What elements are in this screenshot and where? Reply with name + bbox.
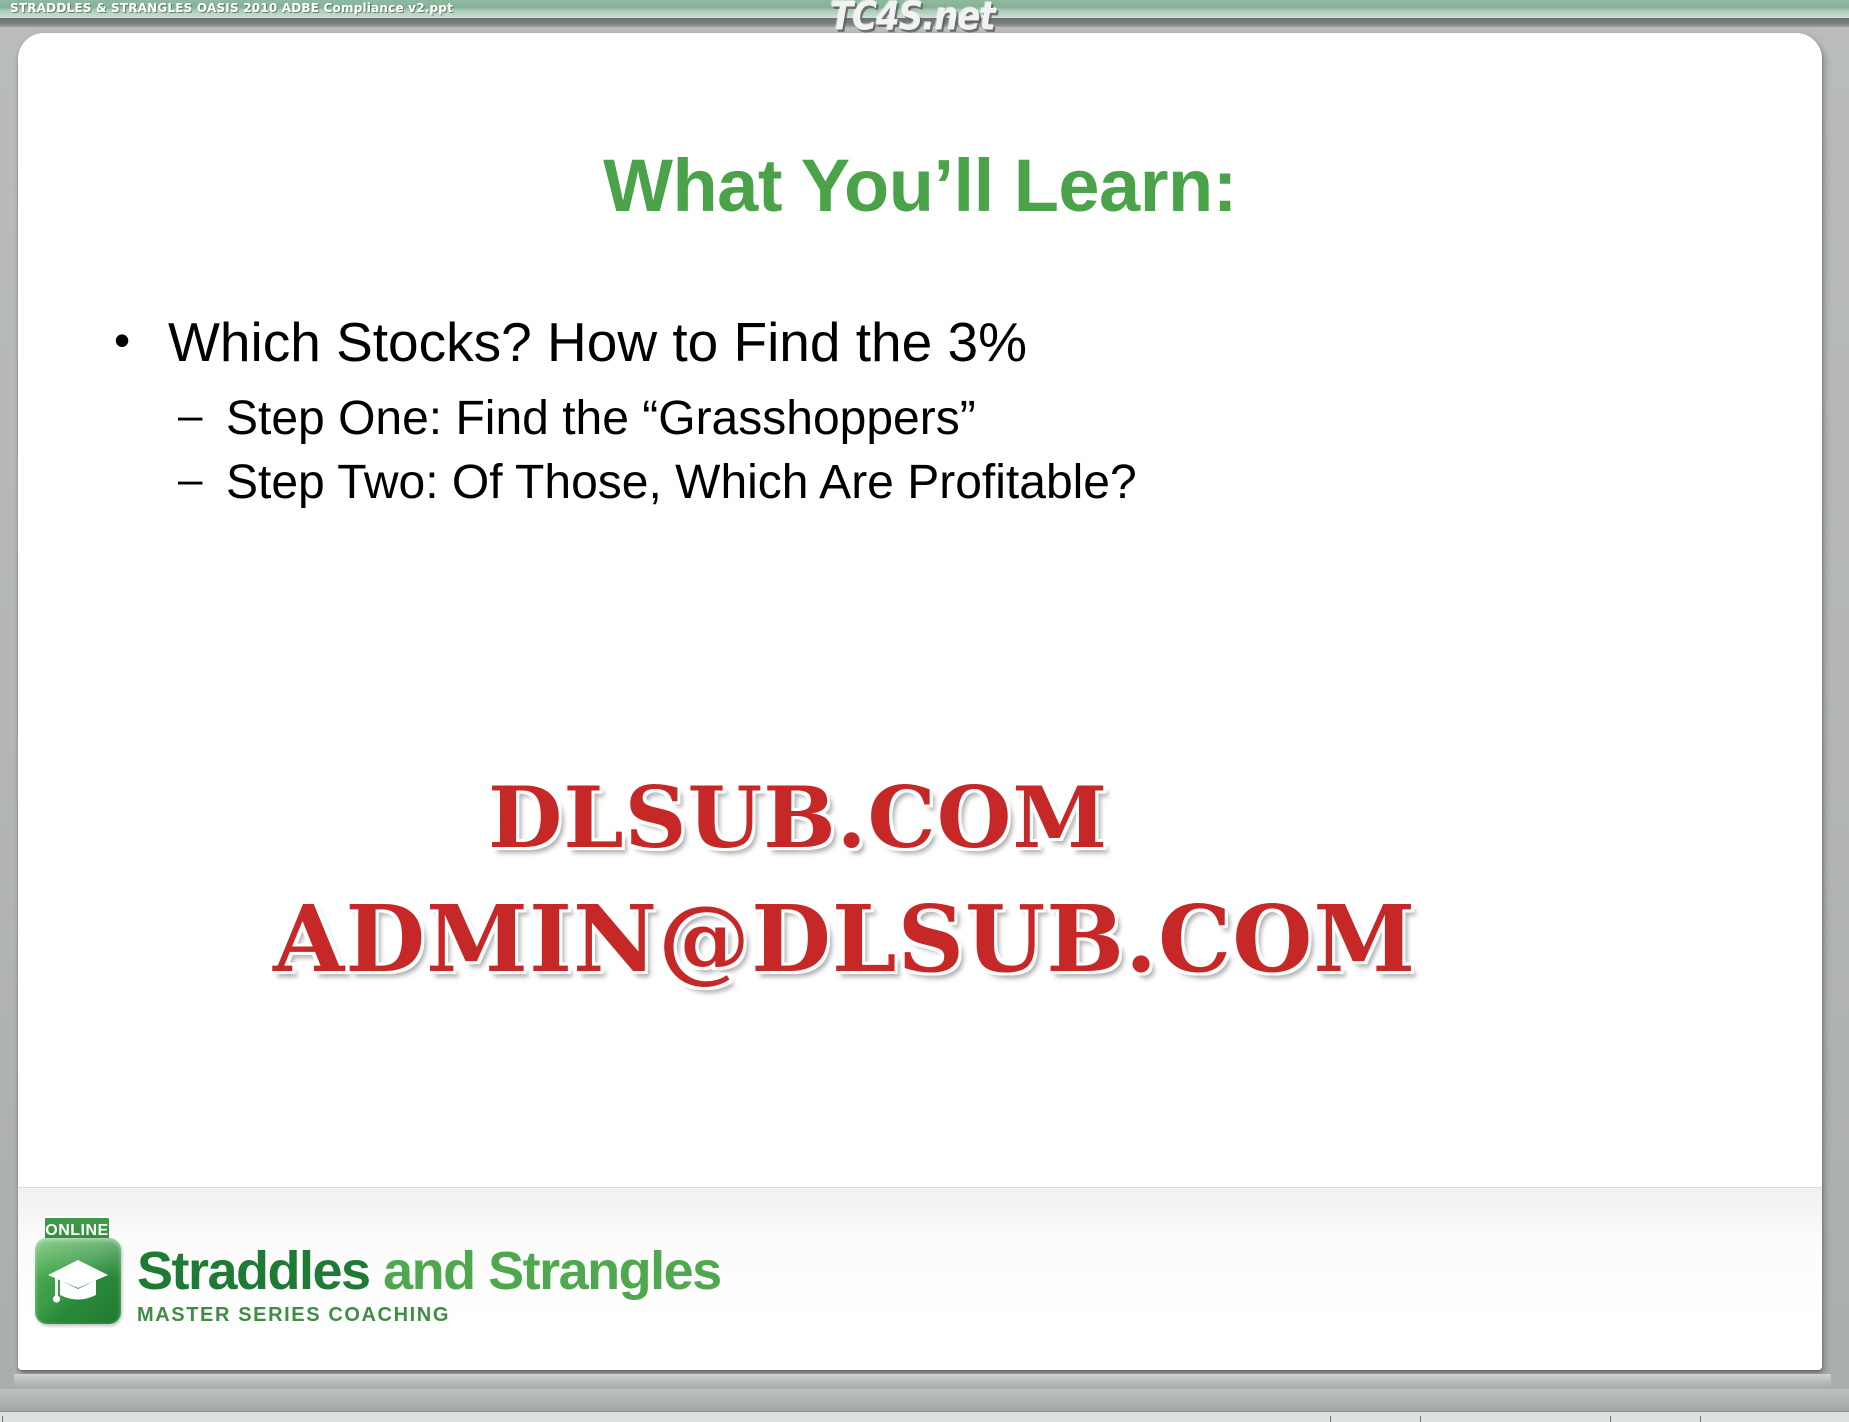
logo-mark: ONLINE xyxy=(35,1216,123,1324)
bullet-text: Step Two: Of Those, Which Are Profitable… xyxy=(226,457,1746,509)
logo-word-secondary: and Strangles xyxy=(370,1241,721,1301)
statusbar-tick xyxy=(1420,1416,1421,1422)
logo-word-primary: Straddles xyxy=(137,1241,370,1301)
bullet-item-level2: – Step One: Find the “Grasshoppers” xyxy=(178,393,1746,445)
statusbar-tick xyxy=(1330,1416,1331,1422)
slide-body: • Which Stocks? How to Find the 3% – Ste… xyxy=(106,313,1746,521)
statusbar-tick xyxy=(1700,1416,1701,1422)
brand-logo: ONLINE Stra xyxy=(35,1216,721,1327)
bullet-marker-dash: – xyxy=(178,393,226,440)
slide-footer-band: ONLINE Stra xyxy=(18,1187,1822,1370)
bullet-item-level2: – Step Two: Of Those, Which Are Profitab… xyxy=(178,457,1746,509)
viewer-bottom-band-lower xyxy=(0,1389,1849,1411)
window-title: STRADDLES & STRANGLES OASIS 2010 ADBE Co… xyxy=(10,1,453,15)
bullet-text: Which Stocks? How to Find the 3% xyxy=(168,313,1746,371)
slide-title: What You’ll Learn: xyxy=(18,143,1822,228)
logo-tagline: MASTER SERIES COACHING xyxy=(137,1304,721,1327)
slide-canvas: What You’ll Learn: • Which Stocks? How t… xyxy=(18,33,1822,1370)
logo-text-block: Straddles and Strangles MASTER SERIES CO… xyxy=(137,1216,721,1327)
graduation-cap-icon xyxy=(46,1258,110,1306)
statusbar-tick xyxy=(1610,1416,1611,1422)
watermark-contact-email: ADMIN@DLSUB.COM xyxy=(273,885,1416,993)
statusbar-tick xyxy=(2,1416,3,1422)
watermark-site-url: DLSUB.COM xyxy=(488,768,1108,867)
site-watermark: TC4S.net xyxy=(830,0,995,40)
bullet-marker-dash: – xyxy=(178,457,226,504)
bullet-marker-dot: • xyxy=(106,313,168,368)
logo-tile xyxy=(35,1238,121,1324)
bullet-text: Step One: Find the “Grasshoppers” xyxy=(226,393,1746,445)
bullet-item-level1: • Which Stocks? How to Find the 3% xyxy=(106,313,1746,371)
viewer-bottom-band-upper xyxy=(14,1374,1831,1389)
viewer-statusbar xyxy=(0,1411,1849,1422)
slide-shell: What You’ll Learn: • Which Stocks? How t… xyxy=(18,33,1822,1370)
presentation-viewer: STRADDLES & STRANGLES OASIS 2010 ADBE Co… xyxy=(0,0,1849,1421)
logo-wordmark: Straddles and Strangles xyxy=(137,1244,721,1298)
